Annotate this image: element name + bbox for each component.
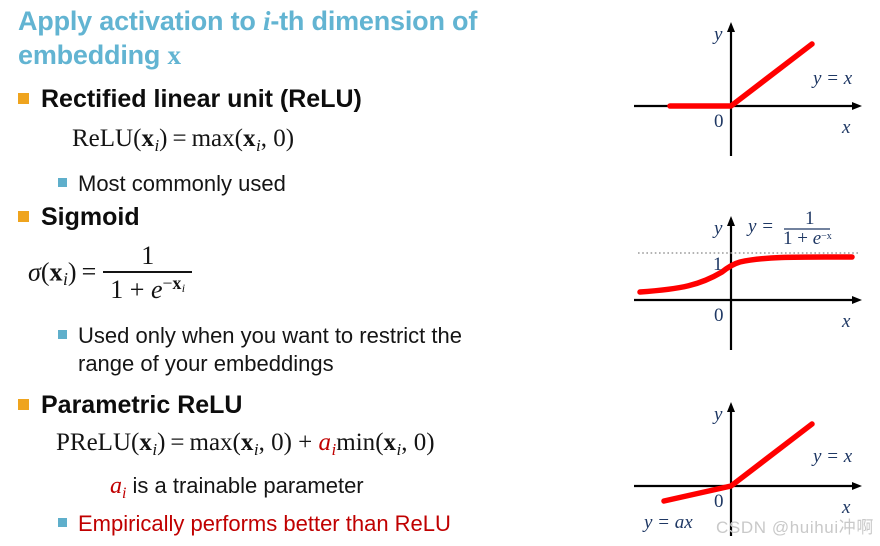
sigmoid-chart: y x 0 1 y = 1 1 + e−x bbox=[626, 200, 880, 350]
subbullet-sigmoid-note: Used only when you want to restrict the … bbox=[58, 322, 638, 378]
formula-sigmoid-exp-var: x bbox=[172, 273, 181, 293]
formula-relu: ReLU(xi)=max(xi, 0) bbox=[72, 126, 294, 155]
prelu-annotation-y-equals-ax: y = ax bbox=[642, 512, 693, 533]
sigmoid-annotation-denominator: 1 + e−x bbox=[783, 228, 832, 249]
bullet-sigmoid-label: Sigmoid bbox=[41, 202, 140, 232]
title-line1-a: Apply activation to bbox=[18, 6, 263, 36]
formula-prelu-argclose: , 0) bbox=[401, 429, 434, 456]
title-line1-b: -th dimension of bbox=[270, 6, 477, 36]
bullet-square-icon bbox=[18, 211, 29, 222]
prelu-y-label: y bbox=[712, 404, 723, 425]
formula-sigmoid-den-e: e bbox=[151, 275, 163, 304]
sigmoid-chart-svg: y x 0 1 y = 1 1 + e−x bbox=[626, 200, 880, 350]
title-line2-x: x bbox=[168, 40, 181, 70]
formula-sigmoid-den-one: 1 + bbox=[110, 275, 144, 304]
formula-sigmoid-open: ( bbox=[41, 257, 50, 286]
bullet-prelu: Parametric ReLU bbox=[18, 390, 242, 420]
sigmoid-annotation-lhs: y = bbox=[746, 216, 774, 237]
formula-sigmoid-exp-minus: − bbox=[162, 273, 172, 293]
x-axis-arrow-icon bbox=[852, 102, 862, 110]
formula-sigmoid-fraction: 11 + e−xi bbox=[103, 242, 192, 305]
sigmoid-annotation-numerator: 1 bbox=[805, 208, 815, 229]
sigmoid-origin-label: 0 bbox=[714, 305, 724, 326]
formula-sigmoid-exp: −xi bbox=[162, 273, 185, 293]
subbullet-prelu-label: Empirically performs better than ReLU bbox=[78, 510, 451, 538]
formula-prelu-open2: ( bbox=[233, 429, 241, 456]
subbullet-sigmoid-line2: range of your embeddings bbox=[78, 351, 334, 376]
bullet-square-sub-icon bbox=[58, 518, 67, 527]
formula-relu-close: ) bbox=[159, 125, 167, 152]
x-axis-arrow-icon bbox=[852, 296, 862, 304]
slide: Apply activation to i-th dimension of em… bbox=[0, 0, 880, 546]
sigmoid-curve bbox=[640, 257, 852, 292]
sigmoid-y-label: y bbox=[712, 218, 723, 239]
formula-relu-argclose: , 0) bbox=[261, 125, 294, 152]
relu-annotation-y-equals-x: y = x bbox=[811, 68, 853, 89]
y-axis-arrow-icon bbox=[727, 216, 735, 226]
relu-curve bbox=[670, 44, 812, 106]
formula-prelu-max: max bbox=[190, 429, 233, 456]
trainable-coef-a: a bbox=[110, 473, 122, 499]
y-axis-arrow-icon bbox=[727, 402, 735, 412]
formula-sigmoid-denominator: 1 + e−xi bbox=[103, 271, 192, 305]
formula-relu-eq: = bbox=[168, 125, 192, 152]
bullet-sigmoid: Sigmoid bbox=[18, 202, 140, 232]
formula-sigmoid-var: x bbox=[50, 257, 63, 286]
formula-relu-var2: x bbox=[243, 125, 256, 152]
charts-column: y x 0 y = x y x 0 1 y = bbox=[626, 0, 880, 546]
formula-sigmoid-sigma: σ bbox=[28, 257, 41, 286]
trainable-text: is a trainable parameter bbox=[126, 473, 363, 498]
formula-prelu-var3: x bbox=[384, 429, 397, 456]
relu-chart-svg: y x 0 y = x bbox=[626, 6, 880, 156]
subbullet-relu-note: Most commonly used bbox=[58, 170, 286, 198]
bullet-square-icon bbox=[18, 93, 29, 104]
bullet-square-sub-icon bbox=[58, 178, 67, 187]
bullet-relu: Rectified linear unit (ReLU) bbox=[18, 84, 362, 114]
formula-prelu-mid: , 0) + bbox=[259, 429, 313, 456]
subbullet-relu-label: Most commonly used bbox=[78, 170, 286, 198]
relu-chart: y x 0 y = x bbox=[626, 6, 880, 156]
formula-prelu-open3: ( bbox=[375, 429, 383, 456]
sigmoid-ytick-label: 1 bbox=[713, 254, 723, 275]
prelu-origin-label: 0 bbox=[714, 491, 724, 512]
relu-y-label: y bbox=[712, 24, 723, 45]
formula-prelu-name: PReLU bbox=[56, 429, 131, 456]
formula-prelu-min: min bbox=[336, 429, 375, 456]
page-title: Apply activation to i-th dimension of em… bbox=[18, 4, 628, 72]
formula-relu-open2: ( bbox=[235, 125, 243, 152]
subbullet-sigmoid-label: Used only when you want to restrict the … bbox=[78, 322, 462, 378]
formula-prelu-eq: = bbox=[165, 429, 189, 456]
formula-relu-max: max bbox=[192, 125, 235, 152]
formula-prelu: PReLU(xi)=max(xi, 0) + aimin(xi, 0) bbox=[56, 430, 435, 459]
bullet-square-sub-icon bbox=[58, 330, 67, 339]
prelu-trainable-note: ai is a trainable parameter bbox=[110, 473, 364, 503]
prelu-annotation-y-equals-x: y = x bbox=[811, 446, 853, 467]
y-axis-arrow-icon bbox=[727, 22, 735, 32]
formula-sigmoid-eq: = bbox=[77, 257, 102, 286]
sigmoid-x-label: x bbox=[841, 311, 851, 332]
x-axis-arrow-icon bbox=[852, 482, 862, 490]
bullet-square-icon bbox=[18, 399, 29, 410]
prelu-curve bbox=[664, 424, 812, 501]
title-line2-a: embedding bbox=[18, 40, 168, 70]
bullet-relu-label: Rectified linear unit (ReLU) bbox=[41, 84, 362, 114]
csdn-watermark: CSDN @huihui冲啊 bbox=[716, 513, 874, 538]
formula-sigmoid-numerator: 1 bbox=[103, 242, 192, 271]
slide-content: Apply activation to i-th dimension of em… bbox=[0, 0, 640, 546]
bullet-prelu-label: Parametric ReLU bbox=[41, 390, 242, 420]
formula-prelu-var2: x bbox=[241, 429, 254, 456]
relu-origin-label: 0 bbox=[714, 111, 724, 132]
formula-sigmoid: σ(xi)=11 + e−xi bbox=[28, 243, 194, 306]
subbullet-prelu-note: Empirically performs better than ReLU bbox=[58, 510, 451, 538]
relu-x-label: x bbox=[841, 117, 851, 138]
formula-relu-name: ReLU bbox=[72, 125, 133, 152]
formula-relu-var: x bbox=[141, 125, 154, 152]
trainable-coef: ai bbox=[110, 473, 126, 499]
formula-prelu-coef: a bbox=[319, 429, 332, 456]
formula-sigmoid-close: ) bbox=[68, 257, 77, 286]
subbullet-sigmoid-line1: Used only when you want to restrict the bbox=[78, 323, 462, 348]
formula-sigmoid-exp-idx: i bbox=[181, 281, 185, 295]
formula-prelu-var: x bbox=[139, 429, 152, 456]
